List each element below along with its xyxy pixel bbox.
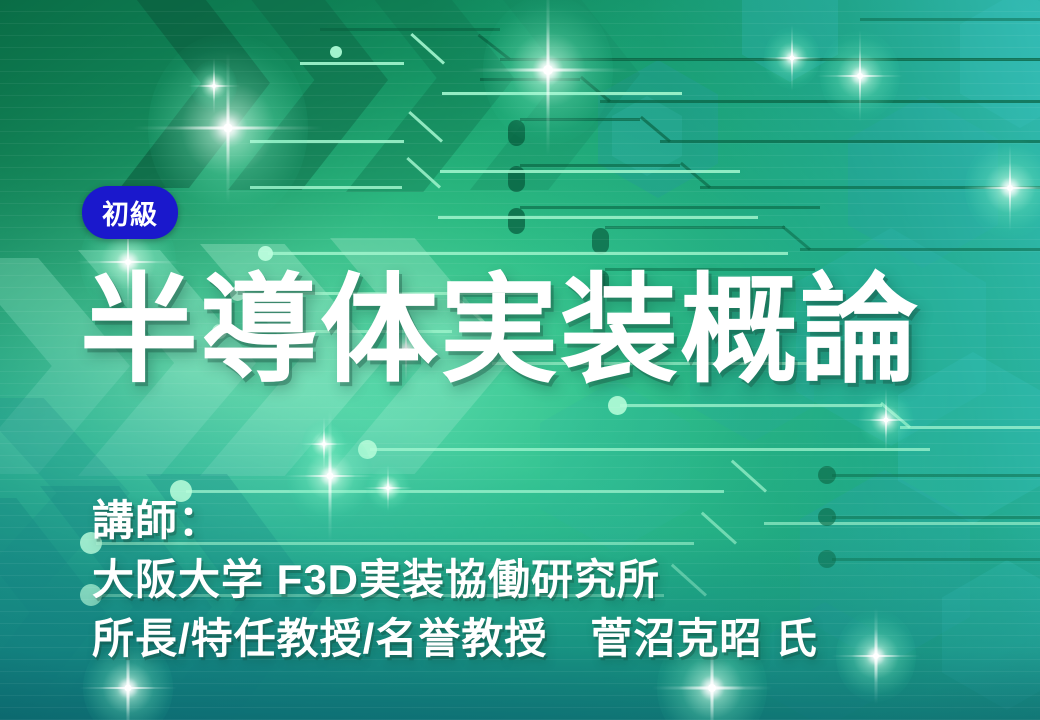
poster-content: 初級 半導体実装概論 講師： 大阪大学 F3D実装協働研究所 所長/特任教授/名… [0, 0, 1040, 720]
course-poster: 初級 半導体実装概論 講師： 大阪大学 F3D実装協働研究所 所長/特任教授/名… [0, 0, 1040, 720]
page-title: 半導体実装概論 [80, 272, 920, 390]
lecturer-heading: 講師： [92, 500, 818, 542]
lecturer-affiliation: 大阪大学 F3D実装協働研究所 [92, 559, 818, 601]
lecturer-role-and-name: 所長/特任教授/名誉教授 菅沼克昭 氏 [92, 618, 818, 660]
level-badge: 初級 [82, 186, 178, 239]
level-badge-label: 初級 [102, 193, 158, 232]
lecturer-block: 講師： 大阪大学 F3D実装協働研究所 所長/特任教授/名誉教授 菅沼克昭 氏 [92, 500, 818, 660]
